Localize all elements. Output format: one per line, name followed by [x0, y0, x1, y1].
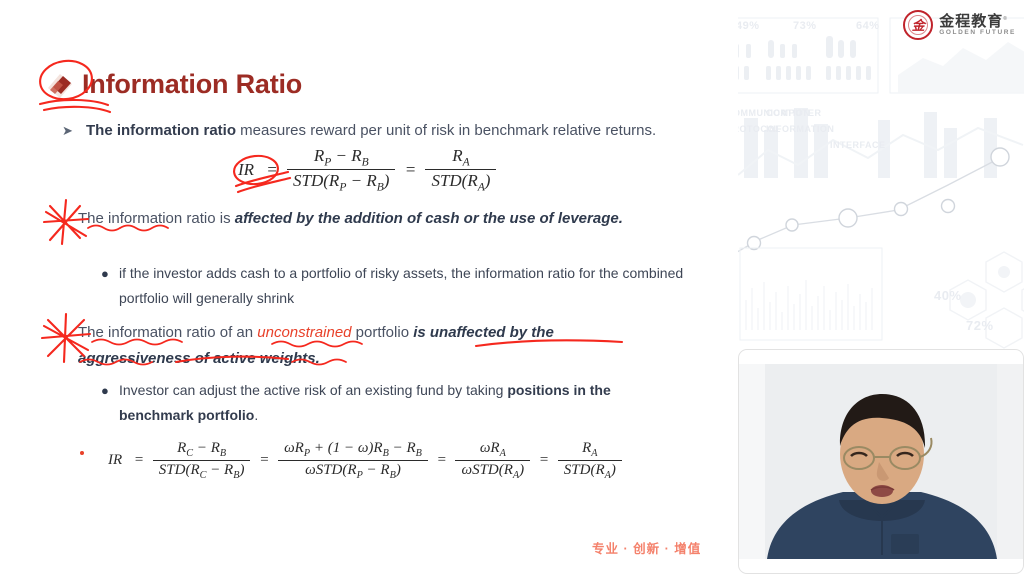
slide-body: ➤ The information ratio measures reward …	[0, 0, 738, 576]
bullet-1-bold-lead: The information ratio	[86, 122, 236, 139]
formula-bottom-f3-den: ωSTD(RA)	[455, 460, 530, 481]
formula-top-f2-den: STD(RA)	[425, 169, 496, 193]
footer-tagline: 专业 · 创新 · 增值	[592, 538, 701, 557]
formula-top-f1-num: RP − RB	[287, 146, 395, 169]
formula-bottom-f1-num: RC − RB	[153, 440, 251, 460]
bullet-3: The information ratio of an unconstraine…	[78, 320, 644, 372]
deco-word-a: COMMUNICATION	[738, 108, 810, 118]
formula-bottom-f3-num: ωRA	[455, 440, 530, 460]
formula-top-frac1: RP − RB STD(RP − RB)	[287, 146, 395, 194]
formula-ir-derivation: IR = RC − RB STD(RC − RB) = ωRP + (1 − ω…	[108, 440, 622, 481]
deco-hex-b: 72%	[966, 318, 994, 333]
formula-bottom-f2-den: ωSTD(RP − RB)	[278, 460, 428, 481]
bullet-3-sub-marker: ●	[101, 378, 109, 403]
bullet-3-sub-part2: .	[254, 407, 258, 423]
formula-bottom-frac4: RA STD(RA)	[558, 440, 622, 481]
instructor-video[interactable]	[739, 350, 1023, 573]
bullet-2-sub-text: if the investor adds cash to a portfolio…	[119, 265, 683, 306]
formula-bottom-f4-den: STD(RA)	[558, 460, 622, 481]
formula-bottom-lead: IR	[108, 452, 125, 469]
decorative-infographic-background: 49% 73% 64% COMPUTER INFORMATION COMMUNI…	[738, 0, 1024, 350]
bullet-2: The information ratio is affected by the…	[78, 206, 638, 232]
deco-pct-c: 64%	[856, 20, 880, 32]
deco-word-c: INTERFACE	[830, 140, 886, 150]
deco-hex-a: 40%	[934, 288, 962, 303]
formula-information-ratio: IR = RP − RB STD(RP − RB) = RA STD(RA)	[238, 146, 496, 194]
bullet-2-lead: The information ratio is	[78, 210, 235, 227]
logo-seal-glyph: 金	[912, 19, 925, 32]
bullet-1-rest: measures reward per unit of risk in benc…	[236, 122, 656, 139]
bullet-2-emphasis: affected by the addition of cash or the …	[235, 210, 623, 227]
formula-top-f1-den: STD(RP − RB)	[287, 169, 395, 193]
formula-bottom-frac1: RC − RB STD(RC − RB)	[153, 440, 251, 481]
deco-pct-b: 73%	[793, 20, 817, 32]
deco-word-b: PROTOCOL	[738, 124, 781, 134]
formula-bottom-f1-den: STD(RC − RB)	[153, 460, 251, 481]
formula-top-eq1: =	[261, 160, 282, 180]
logo-seal-icon: 金	[903, 10, 933, 40]
formula-bottom-frac2: ωRP + (1 − ω)RB − RB ωSTD(RP − RB)	[278, 440, 428, 481]
formula-top-frac2: RA STD(RA)	[425, 146, 496, 194]
bullet-3-sub: ● Investor can adjust the active risk of…	[119, 378, 685, 428]
bullet-1-marker: ➤	[62, 118, 73, 144]
formula-top-f2-num: RA	[425, 146, 496, 169]
formula-bottom-f2-num: ωRP + (1 − ω)RB − RB	[278, 440, 428, 460]
bullet-3-red-italic: unconstrained	[257, 324, 351, 341]
formula-bottom-eq2: =	[254, 452, 274, 469]
logo-name-en: GOLDEN FUTURE	[939, 29, 1016, 36]
deco-graphics	[738, 0, 1024, 350]
formula-bottom-eq4: =	[534, 452, 554, 469]
bullet-2-sub-marker: ●	[101, 261, 109, 286]
formula-top-eq2: =	[400, 160, 421, 180]
bullet-3-part1: The information ratio of an	[78, 324, 257, 341]
bullet-2-sub: ● if the investor adds cash to a portfol…	[119, 261, 689, 311]
bullet-1: ➤ The information ratio measures reward …	[86, 118, 676, 144]
formula-top-lead: IR	[238, 160, 257, 180]
brand-logo: 金 金程教育® GOLDEN FUTURE	[903, 10, 1016, 40]
deco-pct-a: 49%	[738, 20, 760, 32]
logo-name-cn: 金程教育®	[939, 14, 1016, 30]
formula-bottom-f4-num: RA	[558, 440, 622, 460]
red-dot-marker	[80, 451, 84, 455]
bullet-3-part2: portfolio	[352, 324, 414, 341]
formula-bottom-frac3: ωRA ωSTD(RA)	[455, 440, 530, 481]
formula-bottom-eq3: =	[432, 452, 452, 469]
slide-canvas: 49% 73% 64% COMPUTER INFORMATION COMMUNI…	[0, 0, 1024, 576]
bullet-3-sub-part1: Investor can adjust the active risk of a…	[119, 382, 507, 398]
formula-bottom-eq1: =	[129, 452, 149, 469]
logo-trademark: ®	[1003, 16, 1008, 22]
